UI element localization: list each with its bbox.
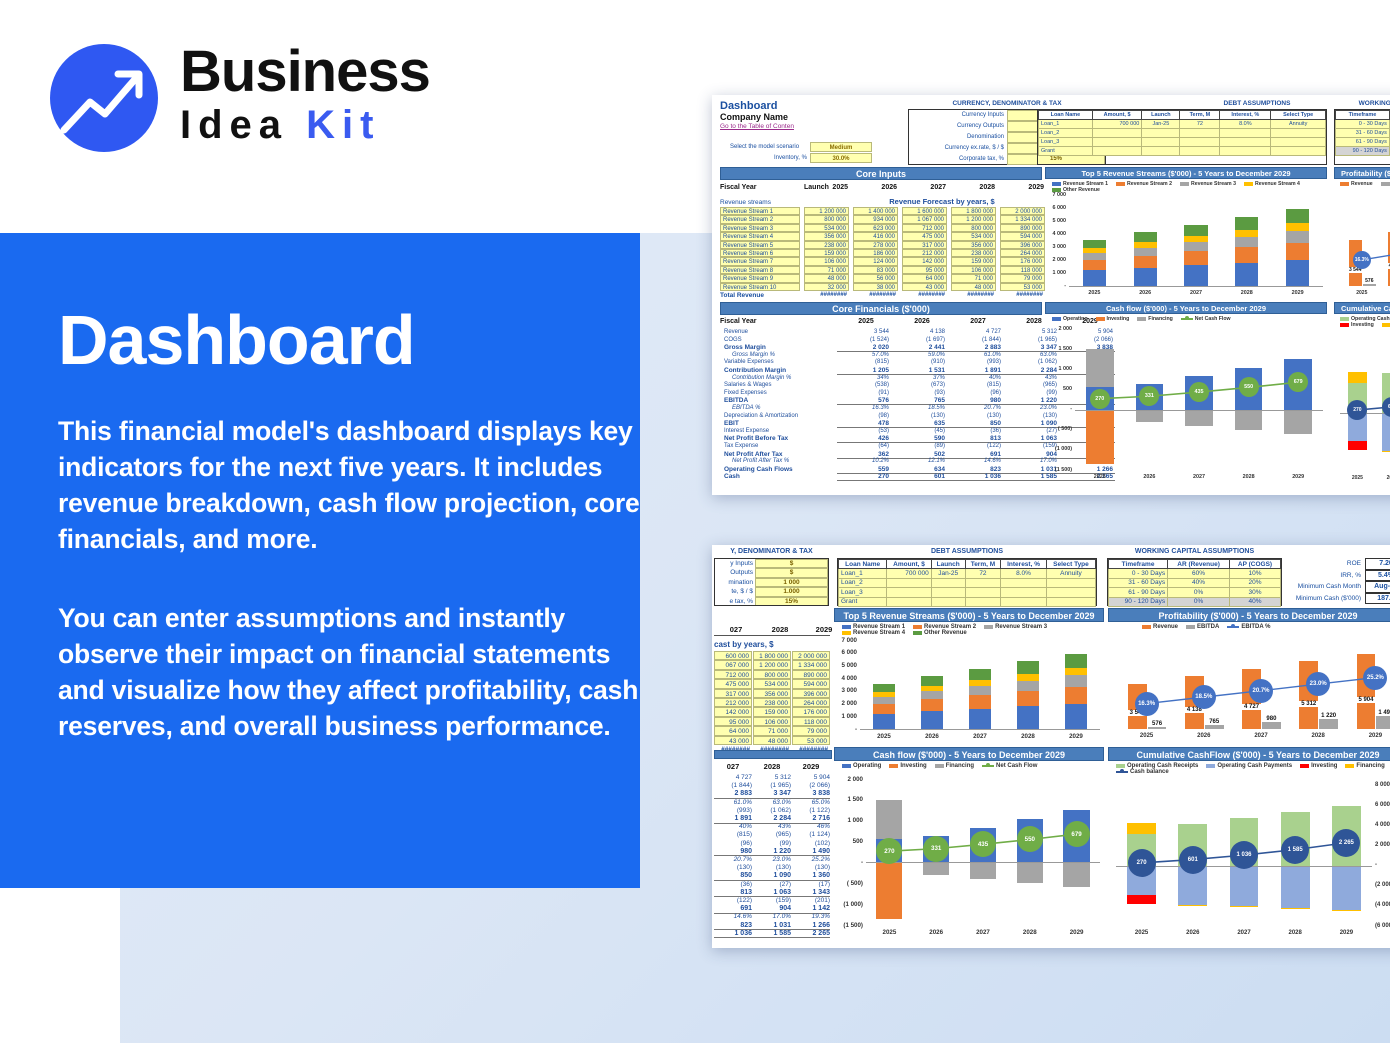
table-cell[interactable] <box>887 597 931 606</box>
table-header-cell: Timeframe <box>1336 111 1390 120</box>
legend-item[interactable]: EBITDA <box>1186 624 1219 630</box>
revenue-forecast-cell[interactable]: 534 000 <box>753 679 791 688</box>
table-cell[interactable] <box>965 588 1001 597</box>
revenue-forecast-cell[interactable]: 212 000 <box>714 698 752 707</box>
revenue-forecast-cell[interactable]: 1 200 000 <box>804 207 849 215</box>
kpi-value: 7.20 <box>1365 558 1390 570</box>
x-axis-tick: 2027 <box>964 733 996 740</box>
panel-paragraph-2: You can enter assumptions and instantly … <box>58 600 658 744</box>
revenue-forecast-cell[interactable]: 142 000 <box>902 257 947 265</box>
legend-swatch <box>1382 323 1390 327</box>
table-cell[interactable] <box>1001 597 1047 606</box>
bar-segment <box>1184 242 1207 251</box>
table-cell[interactable]: 72 <box>965 569 1001 578</box>
chart-title-cash-flow-2: Cash flow ($'000) - 5 Years to December … <box>834 747 1104 761</box>
table-cell[interactable]: 700 000 <box>887 569 931 578</box>
revenue-forecast-cell[interactable]: 32 000 <box>804 283 849 291</box>
financial-row-value: 3 544 <box>841 329 889 335</box>
legend-item[interactable]: Revenue Stream 4 <box>1244 181 1300 187</box>
table-cell[interactable] <box>1046 597 1095 606</box>
table-cell[interactable]: 20% <box>1230 578 1281 587</box>
revenue-stream-name[interactable]: Revenue Stream 4 <box>720 232 800 240</box>
table-of-contents-link[interactable]: Go to the Table of Conten <box>720 123 794 130</box>
y-axis-tick: 2 000 <box>834 700 857 707</box>
revenue-forecast-cell[interactable]: 238 000 <box>951 249 996 257</box>
bar-segment <box>969 686 991 695</box>
table-cell[interactable]: 0 - 30 Days <box>1336 120 1390 129</box>
revenue-forecast-cell[interactable]: 264 000 <box>792 698 830 707</box>
table-cell[interactable] <box>887 578 931 587</box>
revenue-forecast-cell[interactable]: 95 000 <box>714 717 752 726</box>
revenue-forecast-cell[interactable]: 95 000 <box>902 266 947 274</box>
revenue-forecast-cell[interactable]: 317 000 <box>902 241 947 249</box>
legend-item[interactable]: Other Revenue <box>913 630 967 636</box>
table-row[interactable]: 0 - 30 Days60%10% <box>1109 569 1281 578</box>
table-cell[interactable] <box>931 578 965 587</box>
currency-row-value[interactable]: 1 000 <box>755 578 828 587</box>
table-row[interactable]: 0 - 30 Days60%10% <box>1336 120 1390 129</box>
kpi-label: ROE <box>1347 560 1365 567</box>
revenue-forecast-cell[interactable]: 278 000 <box>853 241 898 249</box>
bar-segment <box>921 699 943 711</box>
table-cell[interactable] <box>1046 588 1095 597</box>
revenue-stream-name[interactable]: Revenue Stream 2 <box>720 215 800 223</box>
legend-label: Investing <box>900 763 926 769</box>
revenue-forecast-cell[interactable]: 238 000 <box>753 698 791 707</box>
table-cell[interactable] <box>1142 147 1180 156</box>
revenue-forecast-cell[interactable]: 159 000 <box>951 257 996 265</box>
revenue-forecast-cell[interactable]: 1 800 000 <box>951 207 996 215</box>
year-header: 2028 <box>951 184 995 191</box>
financial-row-value: (93) <box>897 390 945 396</box>
revenue-forecast-cell[interactable]: 356 000 <box>804 232 849 240</box>
revenue-stream-name[interactable]: Revenue Stream 5 <box>720 241 800 249</box>
legend-item[interactable]: Net Cash Flow <box>1181 316 1231 322</box>
financial-row-value: 691 <box>714 905 752 912</box>
table-row[interactable]: Loan_1700 000Jan-25728.0%Annuity <box>839 569 1096 578</box>
financial-row-label: Interest Expense <box>724 428 769 434</box>
financial-row-value: 3 838 <box>792 790 830 797</box>
currency-row-value[interactable]: 15% <box>755 597 828 606</box>
financial-row-value: 14.6% <box>714 913 752 920</box>
table-cell[interactable]: 40% <box>1168 578 1230 587</box>
table-cell[interactable]: 72 <box>1180 120 1220 129</box>
table-row[interactable]: 61 - 90 Days0%30% <box>1109 588 1281 597</box>
revenue-forecast-cell[interactable]: 71 000 <box>804 266 849 274</box>
table-row[interactable]: 90 - 120 Days0%40% <box>1109 597 1281 606</box>
revenue-forecast-cell[interactable]: 118 000 <box>792 717 830 726</box>
revenue-stream-name[interactable]: Revenue Stream 8 <box>720 266 800 274</box>
legend-item[interactable]: Financing <box>1137 316 1173 322</box>
financial-row-value: (1 844) <box>953 337 1001 343</box>
financial-row-value: 1 585 <box>753 930 791 937</box>
table-cell[interactable] <box>1142 129 1180 138</box>
table-row[interactable]: Grant <box>839 597 1096 606</box>
table-cell[interactable] <box>931 597 965 606</box>
revenue-forecast-cell[interactable]: 1 800 000 <box>753 651 791 660</box>
revenue-forecast-cell[interactable]: 356 000 <box>753 689 791 698</box>
revenue-forecast-cell[interactable]: 43 000 <box>714 736 752 745</box>
table-cell[interactable] <box>1220 147 1271 156</box>
table-cell[interactable]: 90 - 120 Days <box>1109 597 1168 606</box>
table-cell[interactable]: 61 - 90 Days <box>1336 138 1390 147</box>
financial-row-value: 4 138 <box>897 329 945 335</box>
table-cell[interactable]: 60% <box>1168 569 1230 578</box>
table-header-cell: Loan Name <box>839 560 887 569</box>
debt-block-table[interactable]: Loan NameAmount, $LaunchTerm, MInterest,… <box>1037 109 1327 165</box>
revenue-forecast-cell[interactable]: 48 000 <box>951 283 996 291</box>
x-axis-line <box>1069 286 1323 287</box>
revenue-forecast-cell[interactable]: 1 200 000 <box>753 660 791 669</box>
financial-row-value: (910) <box>897 359 945 365</box>
table-cell[interactable] <box>931 588 965 597</box>
legend-item[interactable]: Revenue Stream 3 <box>984 624 1047 630</box>
year-header: 027 <box>714 762 752 771</box>
table-row[interactable]: 61 - 90 Days0%30% <box>1336 138 1390 147</box>
table-cell[interactable]: 40% <box>1230 597 1281 606</box>
table-cell[interactable] <box>1001 578 1047 587</box>
legend-item[interactable]: Cash balance <box>1116 769 1169 775</box>
table-row[interactable]: 90 - 120 Days0%40% <box>1336 147 1390 156</box>
table-cell[interactable]: 700 000 <box>1092 120 1142 129</box>
bar-segment <box>1017 674 1039 681</box>
financial-row-value: 1 531 <box>897 367 945 374</box>
revenue-forecast-cell[interactable]: 64 000 <box>714 726 752 735</box>
revenue-forecast-cell[interactable]: 800 000 <box>951 224 996 232</box>
table-cell[interactable] <box>1271 138 1326 147</box>
chart-legend-cumulative-cashflow: Operating Cash ReceiptsOperating Cash Pa… <box>1340 316 1390 328</box>
legend-item[interactable]: Operating <box>842 763 881 769</box>
revenue-forecast-cell[interactable]: 142 000 <box>714 707 752 716</box>
table-cell[interactable] <box>1220 138 1271 147</box>
inventory-input[interactable]: 30.0% <box>810 153 872 163</box>
table-row[interactable]: Loan_1700 000Jan-25728.0%Annuity <box>1039 120 1326 129</box>
year-header: 2027 <box>953 318 1003 325</box>
table-cell[interactable]: 90 - 120 Days <box>1336 147 1390 156</box>
revenue-forecast-cell[interactable]: 800 000 <box>804 215 849 223</box>
table-cell[interactable]: 31 - 60 Days <box>1109 578 1168 587</box>
table-cell[interactable]: Annuity <box>1046 569 1095 578</box>
bar-segment <box>1184 251 1207 265</box>
table-cell[interactable]: 31 - 60 Days <box>1336 129 1390 138</box>
legend-item[interactable]: Revenue Stream 3 <box>1180 181 1236 187</box>
revenue-forecast-cell[interactable]: 396 000 <box>792 689 830 698</box>
revenue-forecast-cell[interactable]: 356 000 <box>951 241 996 249</box>
legend-item[interactable]: Investing <box>889 763 926 769</box>
bar-segment <box>1184 236 1207 242</box>
financial-row-value: 691 <box>953 451 1001 458</box>
revenue-stream-name[interactable]: Revenue Stream 10 <box>720 283 800 291</box>
legend-item[interactable]: Financing <box>935 763 974 769</box>
table-cell[interactable]: Loan_3 <box>1039 138 1093 147</box>
table-row[interactable]: 31 - 60 Days40%20% <box>1109 578 1281 587</box>
legend-item[interactable]: Investing <box>1096 316 1130 322</box>
revenue-stream-name[interactable]: Revenue Stream 6 <box>720 249 800 257</box>
revenue-forecast-cell[interactable]: 83 000 <box>853 266 898 274</box>
revenue-forecast-cell[interactable]: 2 000 000 <box>792 651 830 660</box>
legend-item[interactable]: Revenue Stream 2 <box>1116 181 1172 187</box>
legend-item[interactable]: Investing <box>1340 322 1374 328</box>
year-header: 2029 <box>1000 184 1044 191</box>
financial-row-value: 59.0% <box>897 352 945 358</box>
revenue-forecast-cell[interactable]: 396 000 <box>1000 241 1045 249</box>
currency-row: e tax, %15% <box>715 597 828 606</box>
financial-row-value: (815) <box>841 359 889 365</box>
table-row[interactable]: Loan_3 <box>839 588 1096 597</box>
scenario-select[interactable]: Medium <box>810 142 872 152</box>
debt-block-header-2: DEBT ASSUMPTIONS <box>837 548 1097 555</box>
bar-segment <box>1083 270 1106 286</box>
revenue-forecast-cell[interactable]: 53 000 <box>1000 283 1045 291</box>
currency-row-label: y Inputs <box>715 559 755 568</box>
chart-plot-cash-flow: 2 0001 5001 000500-( 500)(1 000)(1 500)2… <box>1045 329 1327 484</box>
revenue-stream-name[interactable]: Revenue Stream 7 <box>720 257 800 265</box>
revenue-forecast-cell[interactable]: 600 000 <box>714 651 752 660</box>
y-axis-tick: 7 000 <box>1045 192 1066 198</box>
table-cell[interactable] <box>965 597 1001 606</box>
year-header: 2025 <box>841 318 891 325</box>
revenue-forecast-cell[interactable]: 1 067 000 <box>902 215 947 223</box>
revenue-forecast-cell[interactable]: 534 000 <box>804 224 849 232</box>
revenue-forecast-cell[interactable]: 534 000 <box>951 232 996 240</box>
currency-block-table-2[interactable]: y Inputs$Outputs$mination1 000te, $ / $1… <box>714 558 829 606</box>
revenue-forecast-cell[interactable]: 800 000 <box>753 670 791 679</box>
financial-row-label: Contribution Margin % <box>724 375 791 381</box>
table-cell[interactable]: 0% <box>1168 588 1230 597</box>
table-cell[interactable]: 0% <box>1168 597 1230 606</box>
table-cell[interactable] <box>965 578 1001 587</box>
table-cell[interactable]: 30% <box>1230 588 1281 597</box>
dashboard-screenshot-bottom[interactable]: Y, DENOMINATOR & TAX y Inputs$Outputs$mi… <box>712 545 1390 948</box>
revenue-forecast-cell[interactable]: 124 000 <box>853 257 898 265</box>
financial-row-value: 813 <box>953 435 1001 442</box>
financial-row-value: (1 062) <box>753 807 791 814</box>
financial-row-value: (98) <box>841 413 889 419</box>
bar-segment <box>969 669 991 680</box>
table-row[interactable]: Grant <box>1039 147 1326 156</box>
table-cell[interactable]: Loan_1 <box>1039 120 1093 129</box>
revenue-forecast-cell[interactable]: 416 000 <box>853 232 898 240</box>
table-header-cell: Loan Name <box>1039 111 1093 120</box>
year-header: 2025 <box>804 184 848 191</box>
revenue-forecast-cell[interactable]: 1 200 000 <box>951 215 996 223</box>
legend-item[interactable]: Operating <box>1052 316 1088 322</box>
revenue-forecast-cell[interactable]: 106 000 <box>951 266 996 274</box>
bar-segment <box>1083 253 1106 260</box>
table-cell[interactable]: Loan_1 <box>839 569 887 578</box>
revenue-forecast-cell[interactable]: 106 000 <box>804 257 849 265</box>
legend-item[interactable]: EBITDA <box>1381 181 1390 187</box>
table-row[interactable]: 31 - 60 Days40%20% <box>1336 129 1390 138</box>
revenue-stream-name[interactable]: Revenue Stream 1 <box>720 207 800 215</box>
financial-row-value: (1 965) <box>753 782 791 789</box>
table-cell[interactable] <box>1180 138 1220 147</box>
financial-row-value: 1 142 <box>792 905 830 912</box>
financial-row-value: 19.3% <box>792 913 830 920</box>
table-cell[interactable] <box>1271 147 1326 156</box>
table-cell[interactable] <box>1092 147 1142 156</box>
financial-row-value: 1 360 <box>792 872 830 879</box>
chart-plot-cumulative-cashflow-2: 8 0006 0004 0002 000-(2 000)(4 000)(6 00… <box>1108 785 1390 940</box>
table-cell[interactable] <box>1271 129 1326 138</box>
financial-row-value: 10.2% <box>841 458 889 464</box>
revenue-forecast-cell[interactable]: 475 000 <box>714 679 752 688</box>
revenue-forecast-cell[interactable]: 176 000 <box>792 707 830 716</box>
table-cell[interactable] <box>1142 138 1180 147</box>
table-cell[interactable]: Grant <box>1039 147 1093 156</box>
bar-segment <box>873 684 895 692</box>
revenue-forecast-cell[interactable]: 176 000 <box>1000 257 1045 265</box>
revenue-forecast-cell[interactable]: 48 000 <box>804 274 849 282</box>
revenue-stream-name[interactable]: Revenue Stream 3 <box>720 224 800 232</box>
revenue-forecast-cell[interactable]: 186 000 <box>853 249 898 257</box>
table-cell[interactable]: 8.0% <box>1001 569 1047 578</box>
table-row[interactable]: Loan_2 <box>1039 129 1326 138</box>
revenue-forecast-cell[interactable]: 317 000 <box>714 689 752 698</box>
revenue-forecast-cell[interactable]: 067 000 <box>714 660 752 669</box>
currency-row-label: Currency ex.rate, $ / $ <box>909 143 1007 154</box>
financial-row-value: 2 020 <box>841 344 889 351</box>
total-revenue-cell: ######## <box>951 292 996 298</box>
data-label-ebitda-percent: 23.0% <box>1306 672 1330 696</box>
wc-block-table-2[interactable]: TimeframeAR (Revenue)AP (COGS)0 - 30 Day… <box>1107 558 1282 606</box>
legend-label: Investing <box>1107 316 1130 322</box>
debt-block-table-2[interactable]: Loan NameAmount, $LaunchTerm, MInterest,… <box>837 558 1097 606</box>
financial-row-value: 850 <box>953 420 1001 427</box>
table-cell[interactable]: 61 - 90 Days <box>1109 588 1168 597</box>
table-header-row: Loan NameAmount, $LaunchTerm, MInterest,… <box>839 560 1096 569</box>
financial-row-value: 1 036 <box>953 473 1001 480</box>
legend-item[interactable]: Financing <box>1345 763 1384 769</box>
legend-item[interactable]: Revenue <box>1340 181 1373 187</box>
revenue-forecast-cell[interactable]: 48 000 <box>753 736 791 745</box>
revenue-forecast-cell[interactable]: 264 000 <box>1000 249 1045 257</box>
revenue-forecast-cell[interactable]: 712 000 <box>714 670 752 679</box>
revenue-forecast-cell[interactable]: 71 000 <box>753 726 791 735</box>
table-cell[interactable] <box>1092 138 1142 147</box>
currency-row-value[interactable]: $ <box>755 559 828 568</box>
financial-row-value: 1 090 <box>753 872 791 879</box>
table-header-cell: Amount, $ <box>887 560 931 569</box>
table-cell[interactable] <box>1092 129 1142 138</box>
financial-row-value: 1 031 <box>753 922 791 929</box>
table-cell[interactable]: Annuity <box>1271 120 1326 129</box>
core-inputs-banner: Core Inputs <box>720 167 1042 180</box>
financial-row-value: (96) <box>714 840 752 847</box>
table-cell[interactable]: Loan_2 <box>1039 129 1093 138</box>
legend-swatch <box>1116 182 1125 186</box>
table-cell[interactable]: Loan_2 <box>839 578 887 587</box>
revenue-forecast-cell[interactable]: 594 000 <box>792 679 830 688</box>
bar-segment <box>921 691 943 699</box>
revenue-forecast-cell[interactable]: 890 000 <box>1000 224 1045 232</box>
legend-item[interactable]: Revenue <box>1142 624 1178 630</box>
legend-item[interactable]: EBITDA % <box>1227 624 1270 630</box>
revenue-forecast-cell[interactable]: 53 000 <box>792 736 830 745</box>
currency-row-value[interactable]: 1.000 <box>755 587 828 596</box>
revenue-forecast-cell[interactable]: 1 334 000 <box>792 660 830 669</box>
financial-row-value: (993) <box>953 359 1001 365</box>
revenue-forecast-cell[interactable]: 43 000 <box>902 283 947 291</box>
revenue-forecast-cell[interactable]: 1 334 000 <box>1000 215 1045 223</box>
currency-row-value[interactable]: $ <box>755 568 828 577</box>
revenue-forecast-cell[interactable]: 712 000 <box>902 224 947 232</box>
financial-row-value: 40% <box>714 823 752 830</box>
revenue-forecast-cell[interactable]: 118 000 <box>1000 266 1045 274</box>
legend-item[interactable]: Net Cash Flow <box>982 763 1037 769</box>
legend-swatch <box>1052 182 1061 186</box>
table-cell[interactable]: Jan-25 <box>931 569 965 578</box>
financial-row-value: 980 <box>714 848 752 855</box>
legend-item[interactable]: Operating Cash Payments <box>1206 763 1292 769</box>
table-cell[interactable]: Loan_3 <box>839 588 887 597</box>
y-axis-tick: 3 000 <box>834 687 857 694</box>
revenue-forecast-cell[interactable]: 623 000 <box>853 224 898 232</box>
revenue-forecast-cell[interactable]: 2 000 000 <box>1000 207 1045 215</box>
revenue-forecast-cell[interactable]: 106 000 <box>753 717 791 726</box>
table-cell[interactable]: Jan-25 <box>1142 120 1180 129</box>
revenue-forecast-cell[interactable]: 64 000 <box>902 274 947 282</box>
financial-row-value: (2 066) <box>792 782 830 789</box>
table-cell[interactable] <box>1180 147 1220 156</box>
financial-row-value: (1 844) <box>714 782 752 789</box>
revenue-forecast-cell[interactable]: 79 000 <box>792 726 830 735</box>
legend-item[interactable]: Investing <box>1300 763 1337 769</box>
revenue-forecast-cell[interactable]: 38 000 <box>853 283 898 291</box>
table-cell[interactable] <box>887 588 931 597</box>
table-row[interactable]: Loan_2 <box>839 578 1096 587</box>
wc-block-header-2: WORKING CAPITAL ASSUMPTIONS <box>1107 548 1282 555</box>
revenue-forecast-cell[interactable]: 56 000 <box>853 274 898 282</box>
bar-segment <box>873 692 895 697</box>
revenue-forecast-cell[interactable]: 1 400 000 <box>853 207 898 215</box>
revenue-forecast-cell[interactable]: 934 000 <box>853 215 898 223</box>
table-cell[interactable] <box>1001 588 1047 597</box>
table-cell[interactable]: 10% <box>1230 569 1281 578</box>
table-cell[interactable] <box>1180 129 1220 138</box>
revenue-forecast-cell[interactable]: 475 000 <box>902 232 947 240</box>
currency-row-label: Corporate tax, % <box>909 154 1007 165</box>
table-row[interactable]: Loan_3 <box>1039 138 1326 147</box>
revenue-forecast-cell[interactable]: 159 000 <box>753 707 791 716</box>
revenue-forecast-cell[interactable]: 159 000 <box>804 249 849 257</box>
revenue-forecast-cell[interactable]: 79 000 <box>1000 274 1045 282</box>
table-cell[interactable] <box>1046 578 1095 587</box>
revenue-forecast-cell[interactable]: 71 000 <box>951 274 996 282</box>
wc-block-table[interactable]: TimeframeAR (Revenue)AP (COGS)0 - 30 Day… <box>1334 109 1390 165</box>
revenue-forecast-cell[interactable]: 890 000 <box>792 670 830 679</box>
legend-item[interactable]: Financing <box>1382 322 1390 328</box>
table-cell[interactable] <box>1220 129 1271 138</box>
table-cell[interactable]: Grant <box>839 597 887 606</box>
revenue-forecast-cell[interactable]: 212 000 <box>902 249 947 257</box>
revenue-forecast-title: Revenue Forecast by years, $ <box>842 197 1042 206</box>
revenue-forecast-cell[interactable]: 1 600 000 <box>902 207 947 215</box>
table-cell[interactable]: 8.0% <box>1220 120 1271 129</box>
dashboard-screenshot-top[interactable]: Dashboard Company Name Go to the Table o… <box>712 95 1390 495</box>
table-cell[interactable]: 0 - 30 Days <box>1109 569 1168 578</box>
core-financials-banner-2 <box>714 750 832 759</box>
revenue-stream-name[interactable]: Revenue Stream 9 <box>720 274 800 282</box>
revenue-forecast-cell[interactable]: 594 000 <box>1000 232 1045 240</box>
legend-swatch <box>1345 764 1354 768</box>
financial-row-value: 1 036 <box>714 930 752 937</box>
financial-row-value: (1 122) <box>792 807 830 814</box>
legend-label: Revenue Stream 3 <box>995 624 1047 630</box>
revenue-forecast-cell[interactable]: 238 000 <box>804 241 849 249</box>
legend-item[interactable]: Revenue Stream 4 <box>842 630 905 636</box>
x-axis-tick: 2025 <box>1078 290 1110 296</box>
